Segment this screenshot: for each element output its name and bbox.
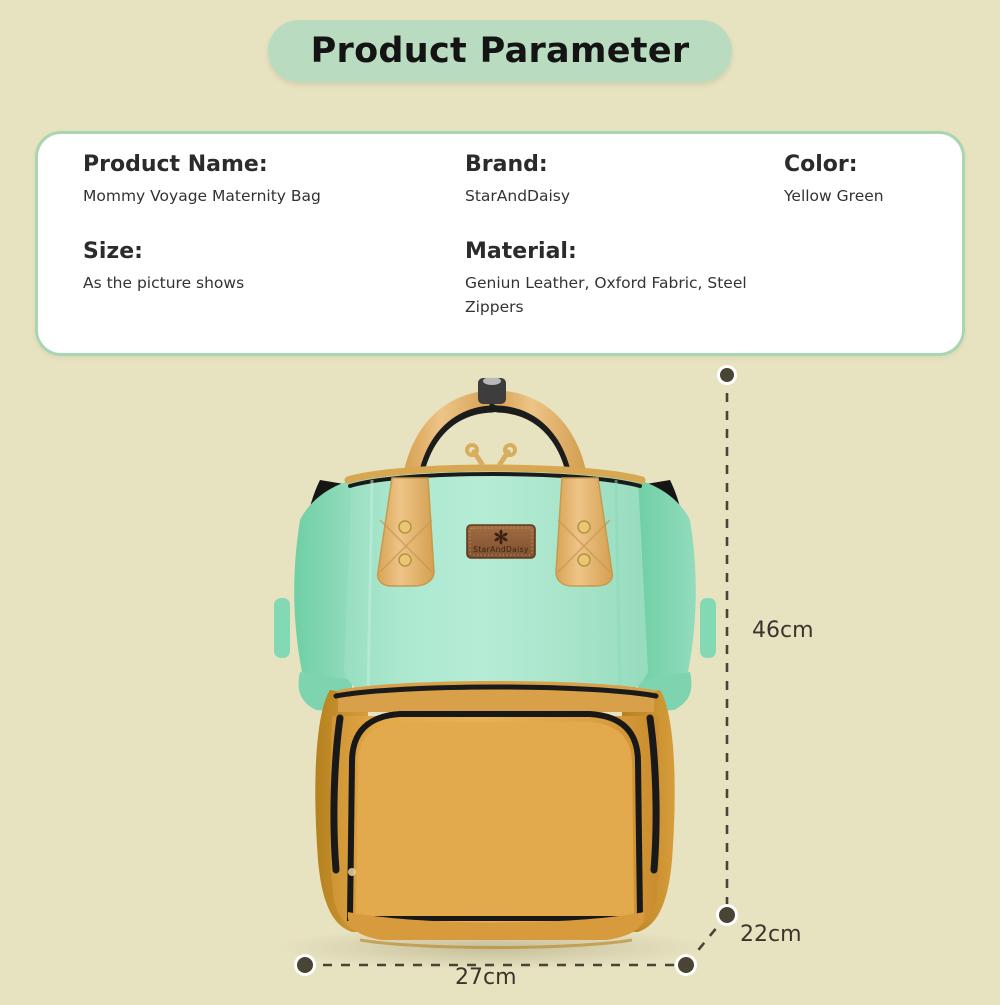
rivet-left-top <box>399 521 411 533</box>
spec-field-color: Color: Yellow Green <box>784 152 884 208</box>
infographic-root: Product Parameter Product Name: Mommy Vo… <box>0 0 1000 1000</box>
rivet-right-bottom <box>578 554 590 566</box>
spec-label-color: Color: <box>784 152 884 177</box>
side-tab-left <box>274 598 290 658</box>
spec-grid: Product Name: Mommy Voyage Maternity Bag… <box>38 134 962 353</box>
spec-value-color: Yellow Green <box>784 184 884 208</box>
body-side-left <box>294 480 352 690</box>
spec-label-product-name: Product Name: <box>83 152 321 177</box>
patch-brand-text: StarAndDaisy <box>473 545 529 554</box>
zipper-pull-left-ring <box>467 445 477 455</box>
page-title: Product Parameter <box>311 34 690 69</box>
spec-label-material: Material: <box>465 239 755 264</box>
spec-field-brand: Brand: StarAndDaisy <box>465 152 570 208</box>
spec-card: Product Name: Mommy Voyage Maternity Bag… <box>35 131 965 356</box>
spec-field-product-name: Product Name: Mommy Voyage Maternity Bag <box>83 152 321 208</box>
spec-value-size: As the picture shows <box>83 271 244 295</box>
front-pocket-face <box>356 722 634 916</box>
spec-field-material: Material: Geniun Leather, Oxford Fabric,… <box>465 239 755 319</box>
spec-value-material: Geniun Leather, Oxford Fabric, Steel Zip… <box>465 271 755 319</box>
product-image: StarAndDaisy <box>0 360 1000 1000</box>
spec-label-brand: Brand: <box>465 152 570 177</box>
pocket-zipper-pull <box>348 868 356 876</box>
rivet-right-top <box>578 521 590 533</box>
zipper-pulls <box>474 452 508 464</box>
zipper-pull-right-ring <box>505 445 515 455</box>
spec-field-size: Size: As the picture shows <box>83 239 244 295</box>
rivet-left-bottom <box>399 554 411 566</box>
spec-value-product-name: Mommy Voyage Maternity Bag <box>83 184 321 208</box>
side-tab-right <box>700 598 716 658</box>
page-title-pill: Product Parameter <box>268 20 732 82</box>
backpack-illustration: StarAndDaisy <box>0 360 1000 1000</box>
handle-clip-highlight <box>483 377 501 385</box>
brand-logo-patch: StarAndDaisy <box>467 525 535 558</box>
spec-value-brand: StarAndDaisy <box>465 184 570 208</box>
spec-label-size: Size: <box>83 239 244 264</box>
